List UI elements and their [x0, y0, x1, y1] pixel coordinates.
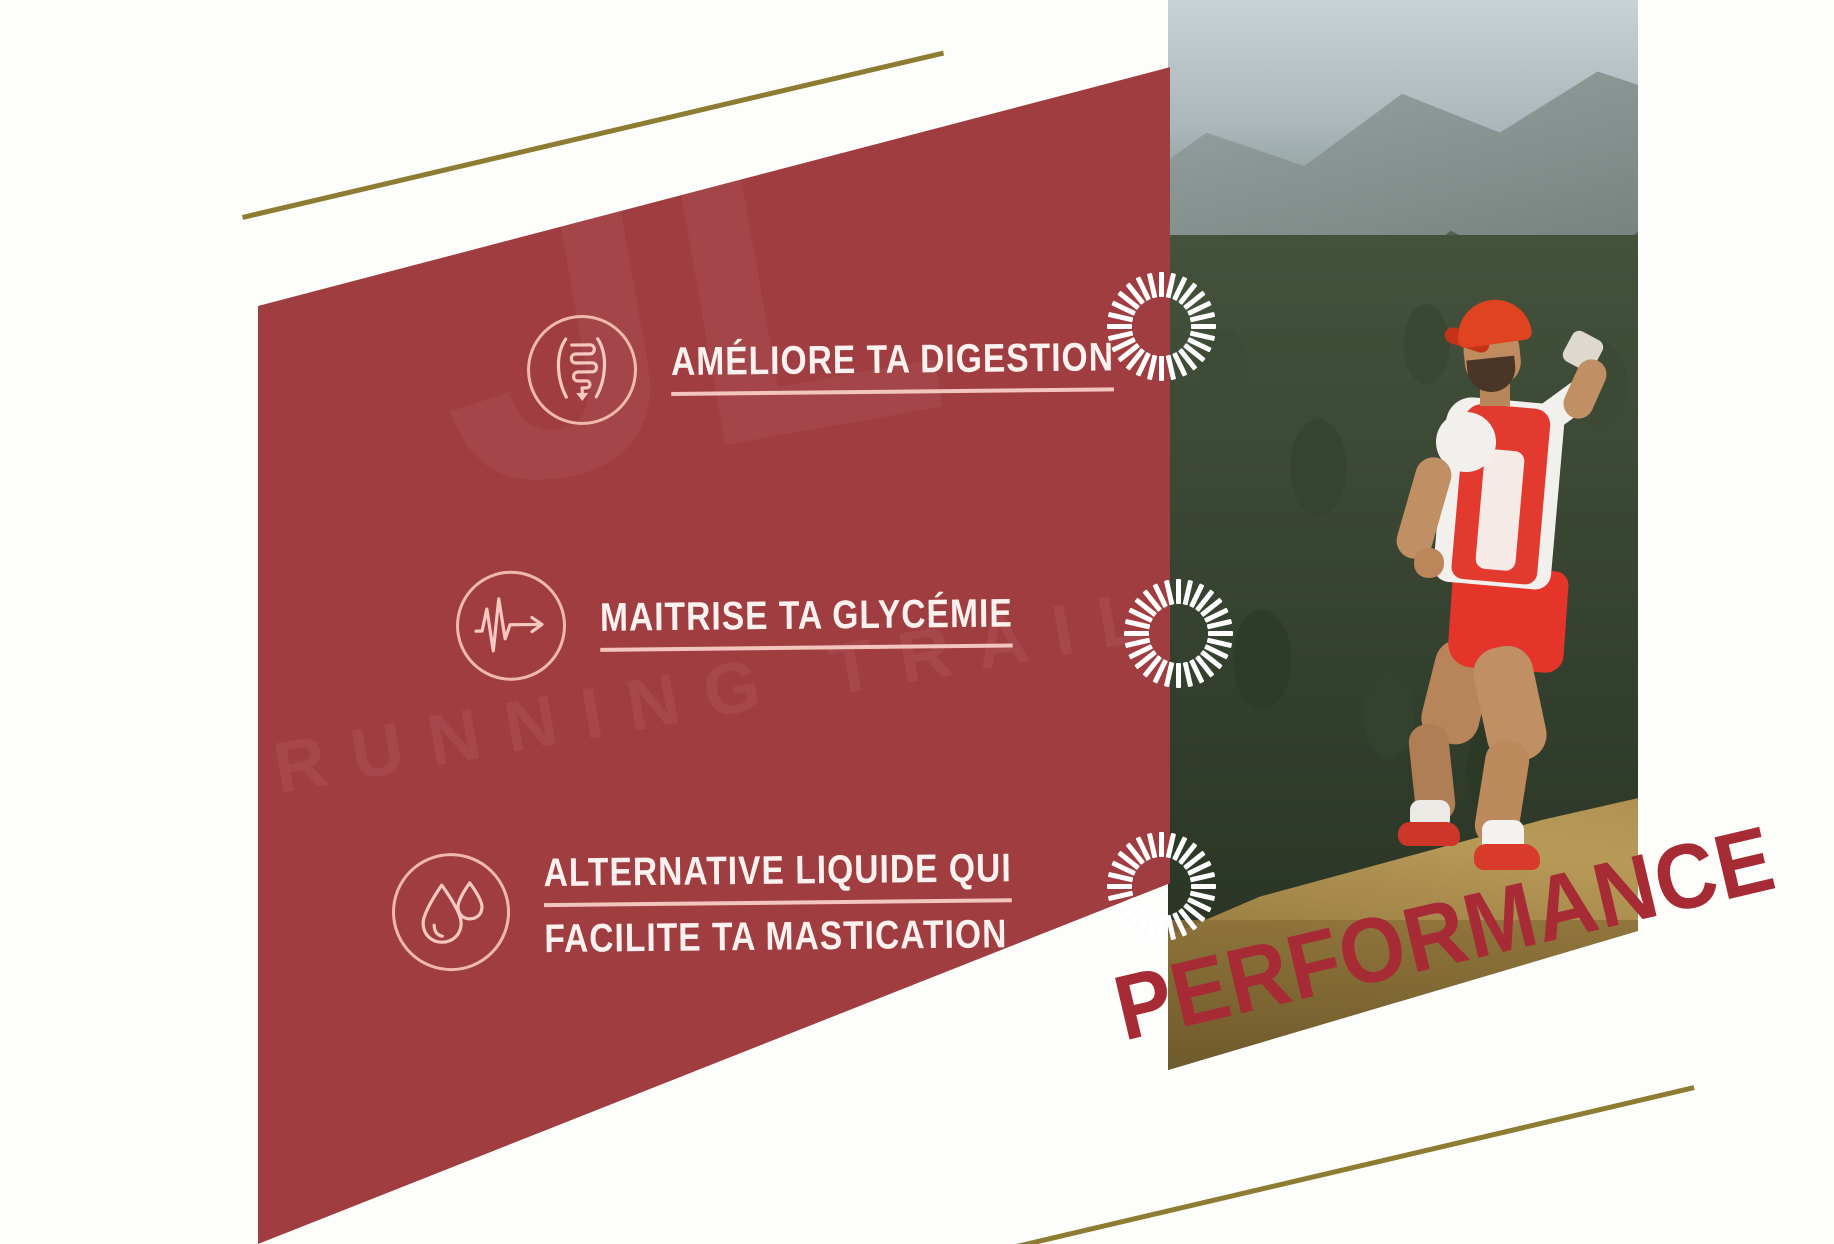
runner-figure [1384, 300, 1614, 860]
watermark-logo: JL [400, 79, 966, 527]
feature-label: AMÉLIORE TA DIGESTION [671, 337, 1115, 395]
feature-row-liquid: ALTERNATIVE LIQUIDE QUI FACILITE TA MAST… [391, 846, 1101, 971]
feature-label-second: FACILITE TA MASTICATION [544, 902, 1013, 969]
feature-text-liquid: ALTERNATIVE LIQUIDE QUI FACILITE TA MAST… [543, 847, 1101, 968]
gold-diagonal-line-bottom [1012, 1085, 1695, 1244]
feature-row-digestion: AMÉLIORE TA DIGESTION [526, 308, 1199, 425]
poster-canvas: JL RUNNING TRAIL AMÉLIORE TA DIGESTION [0, 0, 1834, 1244]
feature-text-glycemia: MAITRISE TA GLYCÉMIE [600, 593, 1092, 652]
feature-label: ALTERNATIVE LIQUIDE QUI [543, 848, 1012, 907]
sunburst-decoration-2 [1122, 565, 1234, 677]
water-drops-icon [391, 852, 510, 971]
sunburst-decoration-3 [1105, 818, 1217, 930]
feature-row-glycemia: MAITRISE TA GLYCÉMIE [455, 565, 1092, 682]
intestine-digestion-icon [526, 314, 637, 425]
pulse-glycemia-icon [455, 570, 566, 681]
feature-label: MAITRISE TA GLYCÉMIE [600, 594, 1013, 652]
sunburst-decoration-1 [1105, 258, 1217, 370]
